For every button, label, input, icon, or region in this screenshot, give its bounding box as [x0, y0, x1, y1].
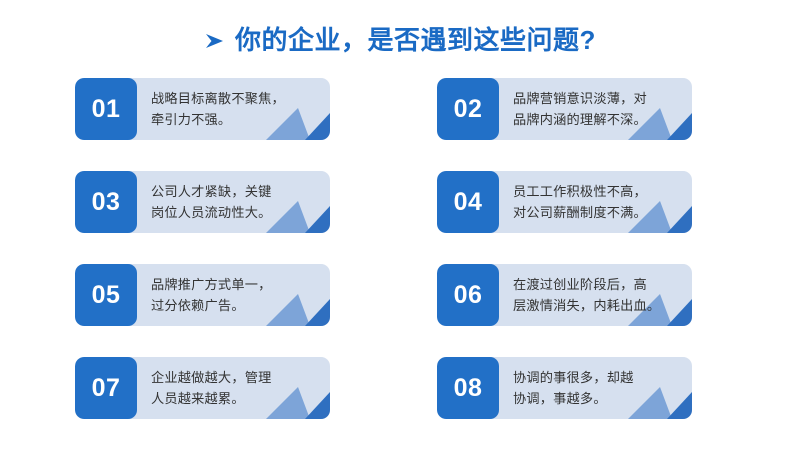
card-text-line-2: 品牌内涵的理解不深。 [513, 109, 647, 130]
problem-card-grid: 01 战略目标离散不聚焦， 牵引力不强。 02 品牌营销意识淡薄，对 品牌内涵的… [75, 78, 725, 428]
card-text-line-2: 人员越来越累。 [151, 388, 272, 409]
page-title-row: 你的企业，是否遇到这些问题? [0, 18, 800, 62]
card-text-line-1: 协调的事很多，却越 [513, 367, 634, 388]
card-text-line-1: 品牌推广方式单一， [151, 274, 272, 295]
card-text-line-2: 层激情消失，内耗出血。 [513, 295, 660, 316]
card-number-badge: 07 [75, 357, 137, 419]
card-body: 品牌推广方式单一， 过分依赖广告。 [137, 264, 330, 326]
card-text-line-2: 协调，事越多。 [513, 388, 634, 409]
card-text: 协调的事很多，却越 协调，事越多。 [513, 367, 634, 410]
card-body: 公司人才紧缺，关键 岗位人员流动性大。 [137, 171, 330, 233]
problem-card-08[interactable]: 08 协调的事很多，却越 协调，事越多。 [437, 357, 692, 419]
card-number-badge: 04 [437, 171, 499, 233]
card-number-badge: 08 [437, 357, 499, 419]
problem-card-01[interactable]: 01 战略目标离散不聚焦， 牵引力不强。 [75, 78, 330, 140]
card-body: 战略目标离散不聚焦， 牵引力不强。 [137, 78, 330, 140]
card-text-line-2: 牵引力不强。 [151, 109, 285, 130]
card-body: 企业越做越大，管理 人员越来越累。 [137, 357, 330, 419]
card-body: 在渡过创业阶段后，高 层激情消失，内耗出血。 [499, 264, 692, 326]
card-text-line-1: 品牌营销意识淡薄，对 [513, 88, 647, 109]
card-text: 品牌营销意识淡薄，对 品牌内涵的理解不深。 [513, 88, 647, 131]
card-number-badge: 05 [75, 264, 137, 326]
card-text-line-2: 对公司薪酬制度不满。 [513, 202, 647, 223]
card-text-line-1: 在渡过创业阶段后，高 [513, 274, 660, 295]
problem-card-06[interactable]: 06 在渡过创业阶段后，高 层激情消失，内耗出血。 [437, 264, 692, 326]
card-text-line-1: 员工工作积极性不高， [513, 181, 647, 202]
card-text-line-1: 战略目标离散不聚焦， [151, 88, 285, 109]
card-text-line-1: 企业越做越大，管理 [151, 367, 272, 388]
card-number-badge: 01 [75, 78, 137, 140]
problem-card-05[interactable]: 05 品牌推广方式单一， 过分依赖广告。 [75, 264, 330, 326]
card-text-line-2: 岗位人员流动性大。 [151, 202, 272, 223]
card-text: 战略目标离散不聚焦， 牵引力不强。 [151, 88, 285, 131]
problem-card-03[interactable]: 03 公司人才紧缺，关键 岗位人员流动性大。 [75, 171, 330, 233]
card-text: 企业越做越大，管理 人员越来越累。 [151, 367, 272, 410]
arrow-right-triangle-icon [204, 31, 226, 51]
card-number-badge: 06 [437, 264, 499, 326]
card-number-badge: 02 [437, 78, 499, 140]
card-text-line-1: 公司人才紧缺，关键 [151, 181, 272, 202]
card-body: 协调的事很多，却越 协调，事越多。 [499, 357, 692, 419]
page-title: 你的企业，是否遇到这些问题? [235, 27, 596, 53]
card-text: 品牌推广方式单一， 过分依赖广告。 [151, 274, 272, 317]
problem-card-07[interactable]: 07 企业越做越大，管理 人员越来越累。 [75, 357, 330, 419]
card-text-line-2: 过分依赖广告。 [151, 295, 272, 316]
problem-card-04[interactable]: 04 员工工作积极性不高， 对公司薪酬制度不满。 [437, 171, 692, 233]
card-body: 员工工作积极性不高， 对公司薪酬制度不满。 [499, 171, 692, 233]
card-text: 在渡过创业阶段后，高 层激情消失，内耗出血。 [513, 274, 660, 317]
card-text: 员工工作积极性不高， 对公司薪酬制度不满。 [513, 181, 647, 224]
problem-card-02[interactable]: 02 品牌营销意识淡薄，对 品牌内涵的理解不深。 [437, 78, 692, 140]
card-number-badge: 03 [75, 171, 137, 233]
card-body: 品牌营销意识淡薄，对 品牌内涵的理解不深。 [499, 78, 692, 140]
card-text: 公司人才紧缺，关键 岗位人员流动性大。 [151, 181, 272, 224]
